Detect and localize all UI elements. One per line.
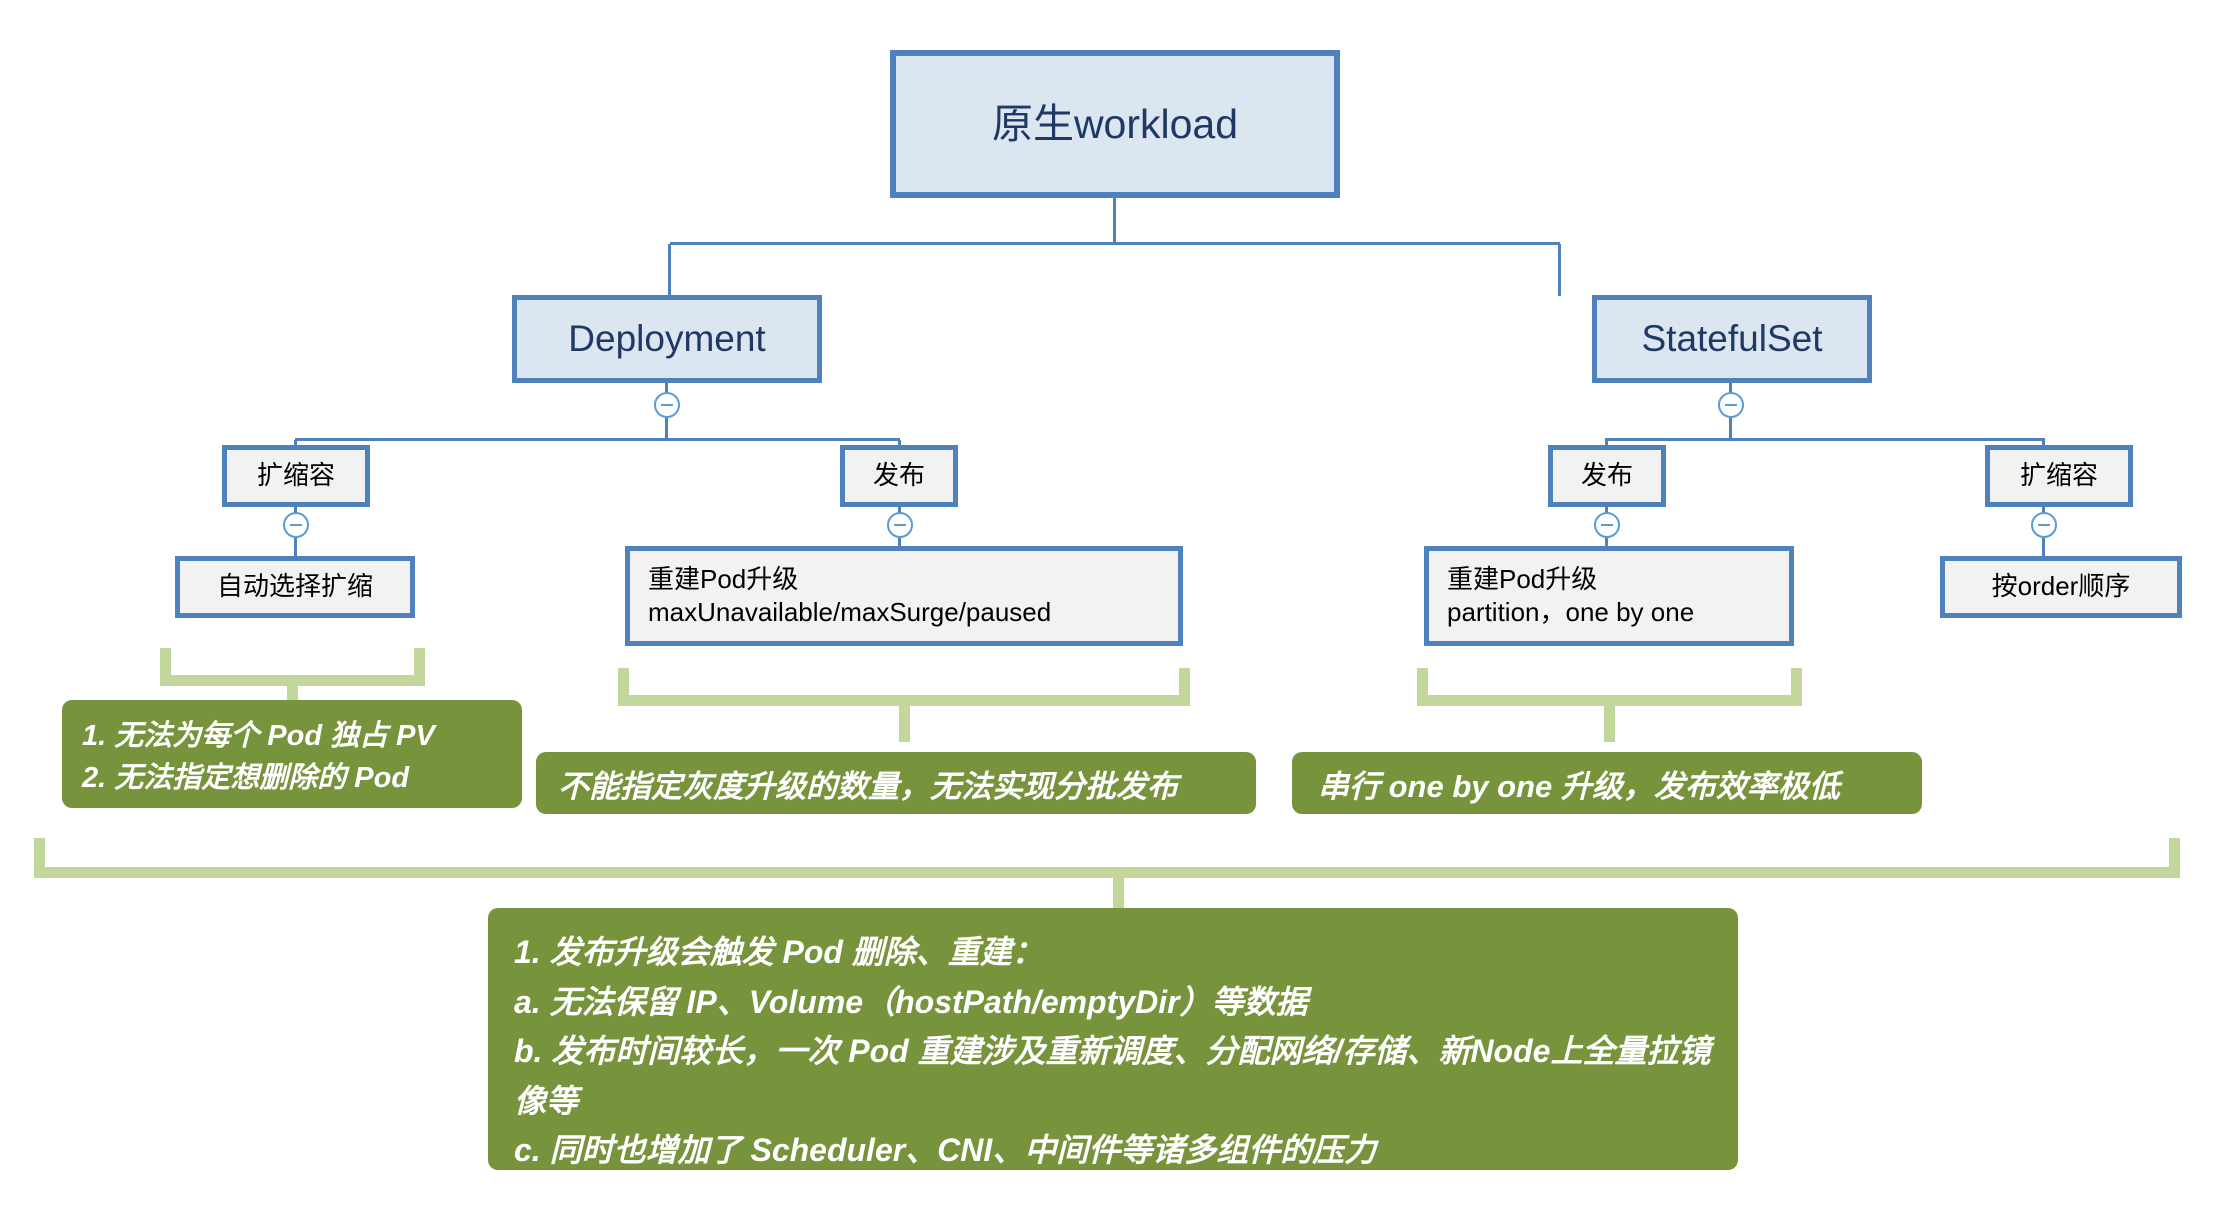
- callout-deployment-release-label: 不能指定灰度升级的数量，无法实现分批发布: [558, 761, 1234, 806]
- bracket-summary: [34, 838, 2180, 878]
- node-statefulset[interactable]: StatefulSet: [1592, 295, 1872, 383]
- connector-deployment-bus: [295, 438, 900, 441]
- bracket-callout-3-stem: [1604, 700, 1615, 742]
- connector-root-stem: [1113, 198, 1116, 244]
- node-statefulset-release[interactable]: 发布: [1548, 445, 1666, 507]
- node-root[interactable]: 原生workload: [890, 50, 1340, 198]
- connector-statefulset-stem-2: [1729, 418, 1732, 440]
- diagram-canvas: 原生workload Deployment StatefulSet 扩缩容 发布…: [0, 0, 2238, 1206]
- minus-circle-icon-statefulset-scale[interactable]: [2031, 512, 2057, 538]
- node-deployment-label: Deployment: [568, 315, 765, 362]
- bracket-callout-2-stem: [899, 700, 910, 742]
- node-statefulset-rebuild[interactable]: 重建Pod升级 partition，one by one: [1424, 546, 1794, 646]
- node-statefulset-rebuild-label: 重建Pod升级 partition，one by one: [1447, 563, 1771, 630]
- node-deployment[interactable]: Deployment: [512, 295, 822, 383]
- minus-circle-icon-deployment-release[interactable]: [887, 512, 913, 538]
- node-deployment-scale-label: 扩缩容: [257, 459, 335, 492]
- callout-deployment-release: 不能指定灰度升级的数量，无法实现分批发布: [536, 752, 1256, 814]
- callout-summary: 1. 发布升级会触发 Pod 删除、重建： a. 无法保留 IP、Volume（…: [488, 908, 1738, 1170]
- callout-deployment-scale: 1. 无法为每个 Pod 独占 PV 2. 无法指定想删除的 Pod: [62, 700, 522, 808]
- minus-circle-icon-statefulset-release[interactable]: [1594, 512, 1620, 538]
- node-auto-scale[interactable]: 自动选择扩缩: [175, 556, 415, 618]
- connector-root-left-drop: [668, 244, 671, 296]
- node-order-sequence-label: 按order顺序: [1945, 570, 2177, 603]
- node-deployment-release[interactable]: 发布: [840, 445, 958, 507]
- node-statefulset-label: StatefulSet: [1641, 315, 1822, 362]
- callout-deployment-scale-label: 1. 无法为每个 Pod 独占 PV 2. 无法指定想删除的 Pod: [82, 712, 502, 796]
- connector-statefulset-bus: [1605, 438, 2045, 441]
- node-deployment-scale[interactable]: 扩缩容: [222, 445, 370, 507]
- connector-root-right-drop: [1558, 244, 1561, 296]
- callout-summary-label: 1. 发布升级会触发 Pod 删除、重建： a. 无法保留 IP、Volume（…: [514, 928, 1712, 1176]
- minus-circle-icon-deployment[interactable]: [654, 392, 680, 418]
- minus-circle-icon-statefulset[interactable]: [1718, 392, 1744, 418]
- node-statefulset-release-label: 发布: [1581, 459, 1633, 492]
- connector-deployment-stem-2: [665, 418, 668, 440]
- node-deployment-release-label: 发布: [873, 459, 925, 492]
- node-order-sequence[interactable]: 按order顺序: [1940, 556, 2182, 618]
- callout-statefulset-release-label: 串行 one by one 升级，发布效率极低: [1318, 761, 1896, 806]
- node-auto-scale-label: 自动选择扩缩: [180, 570, 410, 603]
- node-statefulset-scale[interactable]: 扩缩容: [1985, 445, 2133, 507]
- minus-circle-icon-deployment-scale[interactable]: [283, 512, 309, 538]
- node-deployment-rebuild[interactable]: 重建Pod升级 maxUnavailable/maxSurge/paused: [625, 546, 1183, 646]
- connector-root-bus: [670, 242, 1560, 245]
- node-deployment-rebuild-label: 重建Pod升级 maxUnavailable/maxSurge/paused: [648, 563, 1160, 630]
- node-statefulset-scale-label: 扩缩容: [2020, 459, 2098, 492]
- callout-statefulset-release: 串行 one by one 升级，发布效率极低: [1292, 752, 1922, 814]
- node-root-label: 原生workload: [992, 98, 1238, 150]
